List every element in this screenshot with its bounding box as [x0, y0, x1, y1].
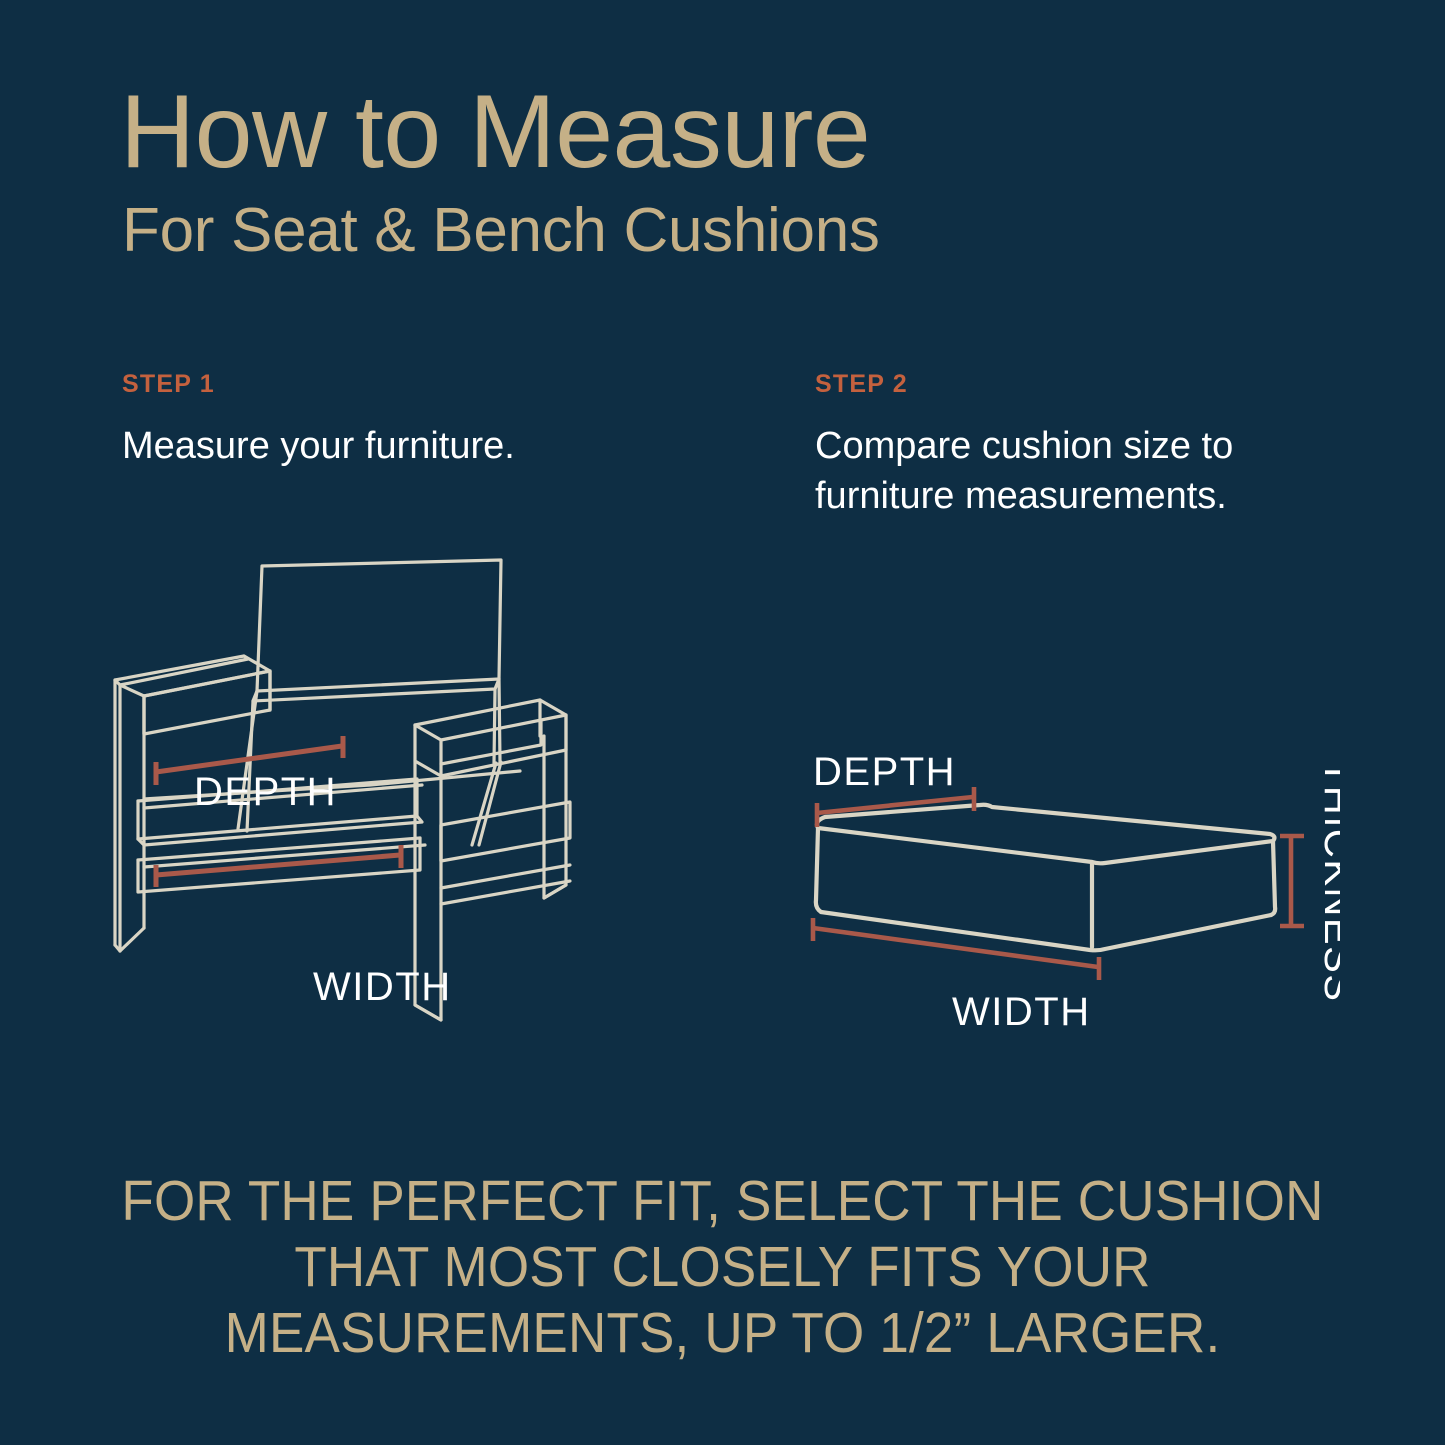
step-1-label: STEP 1	[122, 370, 642, 399]
cushion-width-line	[813, 928, 1098, 967]
right-seat-rail	[441, 802, 570, 861]
step-1-text: Measure your furniture.	[122, 421, 642, 471]
cushion-front-bottom	[821, 912, 1271, 950]
cushion-width-label: WIDTH	[952, 990, 1091, 1034]
chair-width-label: WIDTH	[313, 965, 452, 1009]
right-arm-top-inner	[441, 715, 566, 776]
chair-back-right-stile-inner	[494, 689, 495, 763]
chair-depth-label: DEPTH	[194, 770, 337, 814]
how-to-measure-infographic: How to Measure For Seat & Bench Cushions…	[0, 0, 1445, 1445]
chair-frame-outline	[115, 560, 570, 1020]
cushion-dimension-lines	[813, 787, 1304, 980]
footer-line-1: FOR THE PERFECT FIT, SELECT THE CUSHION	[51, 1168, 1395, 1234]
footer-line-3: MEASUREMENTS, UP TO 1/2” LARGER.	[51, 1300, 1395, 1366]
cushion-depth-label: DEPTH	[813, 750, 956, 794]
chair-back-right-stile	[499, 679, 500, 762]
step-2-text: Compare cushion size to furniture measur…	[815, 421, 1335, 521]
chair-diagram: DEPTH WIDTH	[100, 540, 740, 1080]
step-1-block: STEP 1 Measure your furniture.	[122, 370, 642, 471]
page-subtitle: For Seat & Bench Cushions	[122, 200, 1222, 262]
cushion-diagram: DEPTH WIDTH THICKNESS	[780, 735, 1340, 1035]
footer-note: FOR THE PERFECT FIT, SELECT THE CUSHION …	[0, 1168, 1445, 1366]
chair-back-panel-outer	[257, 560, 501, 691]
right-rear-leg-foot	[544, 885, 566, 898]
step-2-block: STEP 2 Compare cushion size to furniture…	[815, 370, 1335, 521]
page-title: How to Measure	[120, 80, 1220, 184]
cushion-top-face	[817, 805, 1275, 864]
step-2-label: STEP 2	[815, 370, 1335, 399]
footer-line-2: THAT MOST CLOSELY FITS YOUR	[51, 1234, 1395, 1300]
cushion-thickness-label: THICKNESS	[1316, 760, 1340, 1002]
cushion-right-edge	[1271, 841, 1275, 915]
cushion-left-edge	[816, 828, 821, 912]
right-arm-corner-a	[415, 725, 441, 740]
cushion-outline	[816, 805, 1275, 951]
